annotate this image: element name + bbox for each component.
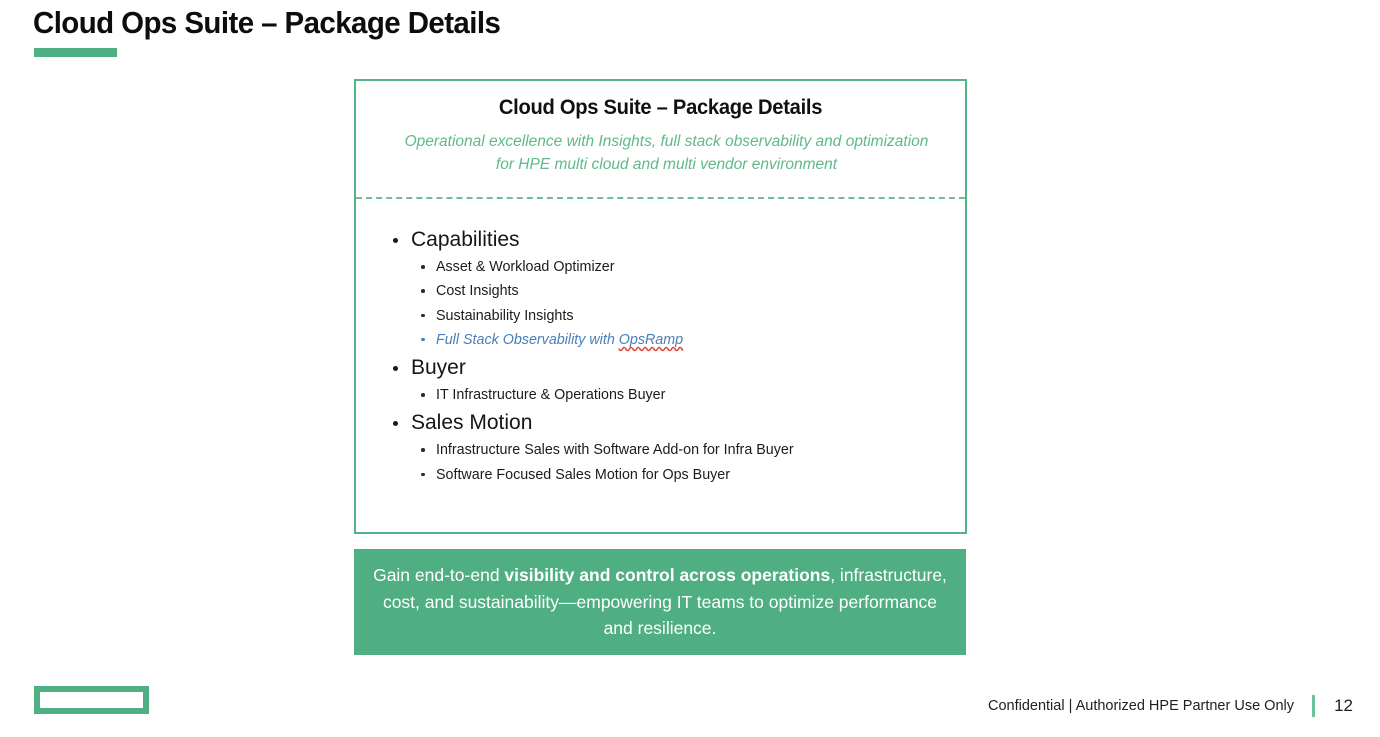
title-accent-bar bbox=[34, 48, 117, 57]
spellcheck-underlined-text: OpsRamp bbox=[619, 332, 683, 348]
list-item: Asset & Workload Optimizer bbox=[416, 255, 965, 279]
card-title: Cloud Ops Suite – Package Details bbox=[368, 94, 953, 122]
callout-lead: Gain end-to-end bbox=[373, 565, 504, 585]
footer: Confidential | Authorized HPE Partner Us… bbox=[988, 695, 1353, 717]
hpe-logo bbox=[34, 686, 149, 714]
list-item: Software Focused Sales Motion for Ops Bu… bbox=[416, 463, 965, 487]
value-statement-banner: Gain end-to-end visibility and control a… bbox=[354, 549, 966, 655]
footer-separator bbox=[1312, 695, 1315, 717]
card-subtitle: Operational excellence with Insights, fu… bbox=[402, 130, 931, 176]
page-title: Cloud Ops Suite – Package Details bbox=[33, 4, 500, 42]
capabilities-list: Capabilities Asset & Workload Optimizer … bbox=[356, 224, 965, 487]
value-statement-text: Gain end-to-end visibility and control a… bbox=[372, 562, 948, 642]
group-heading: Capabilities bbox=[389, 224, 965, 255]
list-item: Cost Insights bbox=[416, 279, 965, 303]
list-item-opsramp-link[interactable]: Full Stack Observability with OpsRamp bbox=[416, 328, 965, 352]
list-item-label: Full Stack Observability with bbox=[436, 332, 619, 348]
group-heading: Sales Motion bbox=[389, 407, 965, 438]
list-item: Infrastructure Sales with Software Add-o… bbox=[416, 438, 965, 462]
bullet-group: Sales Motion Infrastructure Sales with S… bbox=[356, 407, 965, 487]
list-item: Sustainability Insights bbox=[416, 304, 965, 328]
package-details-card: Cloud Ops Suite – Package Details Operat… bbox=[354, 79, 967, 534]
group-heading: Buyer bbox=[389, 352, 965, 383]
bullet-group: Capabilities Asset & Workload Optimizer … bbox=[356, 224, 965, 352]
confidentiality-note: Confidential | Authorized HPE Partner Us… bbox=[988, 696, 1294, 716]
list-item: IT Infrastructure & Operations Buyer bbox=[416, 383, 965, 407]
page-number: 12 bbox=[1331, 696, 1353, 716]
callout-emphasis: visibility and control across operations bbox=[504, 565, 830, 585]
bullet-group: Buyer IT Infrastructure & Operations Buy… bbox=[356, 352, 965, 407]
card-divider bbox=[356, 197, 965, 199]
